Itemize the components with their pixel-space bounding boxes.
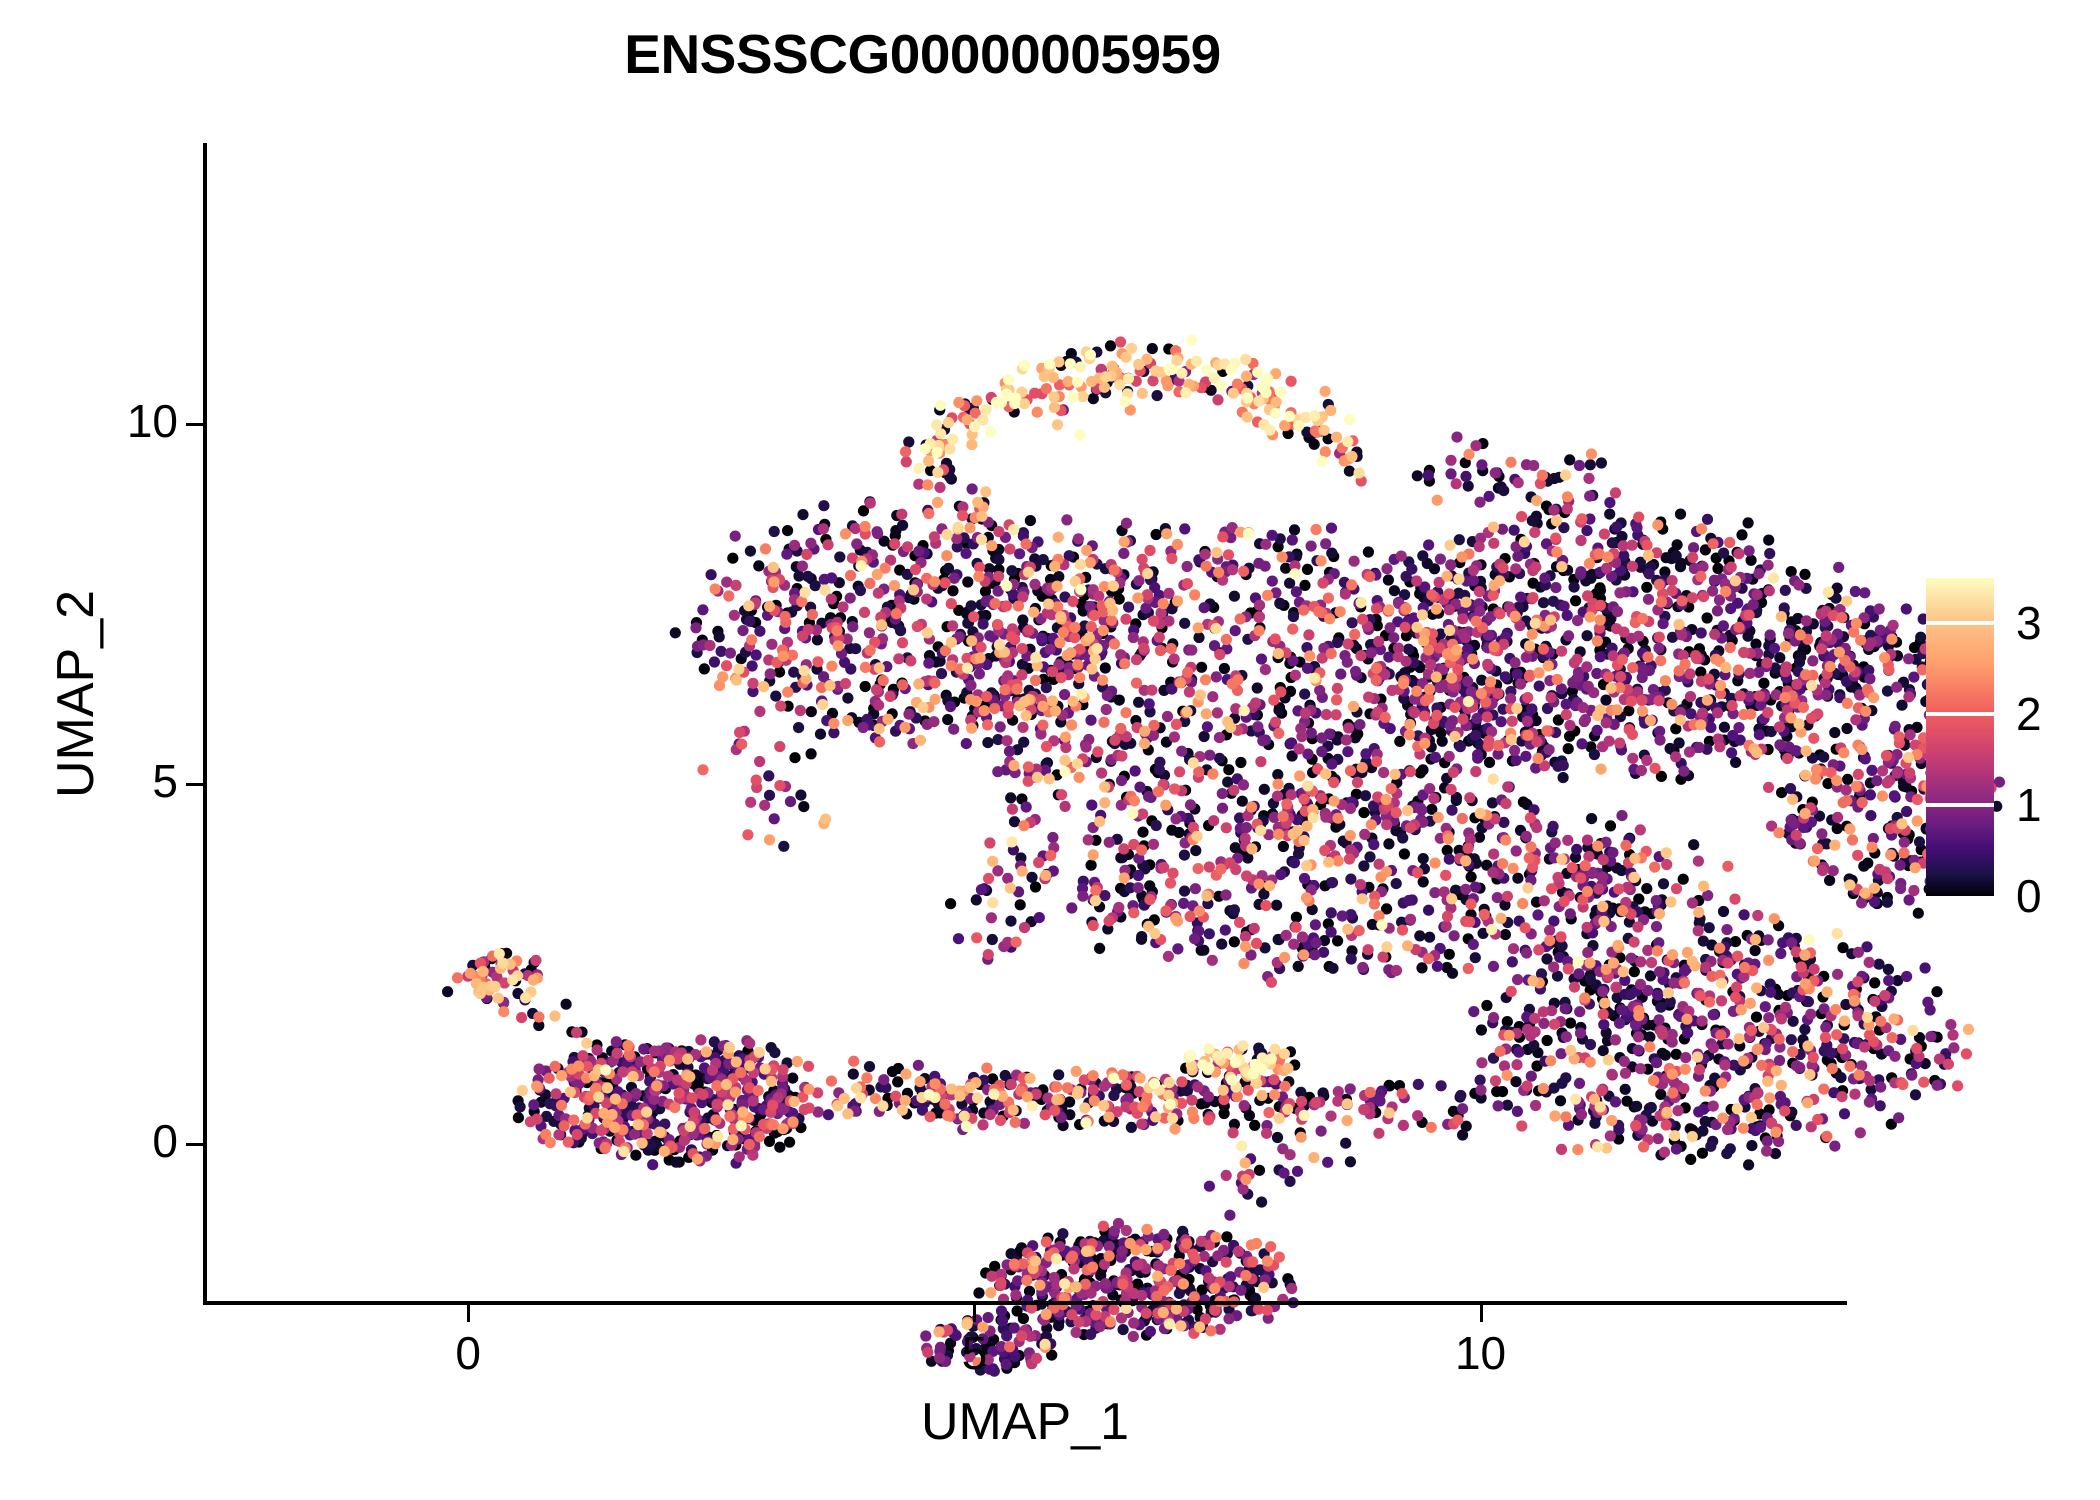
- scatter-point: [1025, 515, 1036, 526]
- scatter-point: [1782, 753, 1793, 764]
- scatter-point: [864, 1061, 875, 1072]
- scatter-point: [643, 1055, 654, 1066]
- scatter-point: [1575, 566, 1586, 577]
- scatter-point: [1853, 947, 1864, 958]
- scatter-point: [1809, 964, 1820, 975]
- scatter-point: [855, 585, 866, 596]
- scatter-point: [1466, 686, 1477, 697]
- scatter-point: [1405, 914, 1416, 925]
- scatter-point: [1586, 813, 1597, 824]
- scatter-point: [1355, 879, 1366, 890]
- scatter-point: [1144, 698, 1155, 709]
- scatter-point: [1056, 789, 1067, 800]
- scatter-point: [1764, 548, 1775, 559]
- scatter-point: [1238, 779, 1249, 790]
- scatter-point: [1403, 644, 1414, 655]
- scatter-point: [1293, 961, 1304, 972]
- scatter-point: [992, 865, 1003, 876]
- scatter-point: [1641, 582, 1652, 593]
- scatter-point: [1556, 646, 1567, 657]
- scatter-point: [1428, 793, 1439, 804]
- scatter-point: [1783, 628, 1794, 639]
- scatter-point: [1716, 995, 1727, 1006]
- scatter-point: [1257, 735, 1268, 746]
- scatter-point: [1643, 594, 1654, 605]
- scatter-point: [1589, 749, 1600, 760]
- scatter-point: [1671, 550, 1682, 561]
- scatter-point: [945, 898, 956, 909]
- scatter-point: [1297, 931, 1308, 942]
- scatter-point: [1564, 731, 1575, 742]
- scatter-point: [1530, 562, 1541, 573]
- scatter-point: [774, 1142, 785, 1153]
- scatter-point: [1488, 538, 1499, 549]
- scatter-point: [1140, 603, 1151, 614]
- scatter-point: [1133, 870, 1144, 881]
- scatter-point: [1905, 729, 1916, 740]
- scatter-point: [1564, 720, 1575, 731]
- scatter-point: [1316, 732, 1327, 743]
- scatter-point: [1182, 561, 1193, 572]
- scatter-point: [1661, 859, 1672, 870]
- scatter-point: [1791, 830, 1802, 841]
- scatter-point: [1066, 1309, 1077, 1320]
- scatter-point: [897, 520, 908, 531]
- scatter-point: [1311, 937, 1322, 948]
- scatter-point: [1620, 1068, 1631, 1079]
- scatter-point: [1294, 743, 1305, 754]
- scatter-point: [1682, 1027, 1693, 1038]
- scatter-point: [1108, 1090, 1119, 1101]
- scatter-point: [1791, 1120, 1802, 1131]
- scatter-point: [1349, 556, 1360, 567]
- scatter-point: [1651, 921, 1662, 932]
- scatter-point: [775, 701, 786, 712]
- scatter-point: [1718, 548, 1729, 559]
- scatter-point: [1118, 1324, 1129, 1335]
- scatter-point: [1738, 647, 1749, 658]
- scatter-point: [1088, 1084, 1099, 1095]
- scatter-point: [1359, 829, 1370, 840]
- scatter-point: [1502, 891, 1513, 902]
- scatter-point: [1546, 692, 1557, 703]
- scatter-point: [1317, 578, 1328, 589]
- scatter-point: [1762, 707, 1773, 718]
- scatter-point: [1865, 789, 1876, 800]
- scatter-point: [1444, 751, 1455, 762]
- scatter-point: [1791, 679, 1802, 690]
- scatter-point: [706, 569, 717, 580]
- scatter-point: [1425, 659, 1436, 670]
- scatter-point: [1853, 769, 1864, 780]
- scatter-point: [1290, 670, 1301, 681]
- scatter-point: [1466, 871, 1477, 882]
- scatter-point: [1882, 777, 1893, 788]
- scatter-point: [1136, 1119, 1147, 1130]
- scatter-point: [1653, 643, 1664, 654]
- scatter-point: [1347, 617, 1358, 628]
- scatter-point: [1599, 529, 1610, 540]
- scatter-point: [1491, 1086, 1502, 1097]
- umap-feature-plot: ENSSSCG00000005959 0510 0510 UMAP_1 UMAP…: [0, 0, 2100, 1500]
- scatter-point: [1774, 652, 1785, 663]
- scatter-point: [1169, 731, 1180, 742]
- scatter-point: [1864, 673, 1875, 684]
- scatter-point: [1601, 563, 1612, 574]
- scatter-point: [1526, 1071, 1537, 1082]
- scatter-point: [561, 999, 572, 1010]
- scatter-point: [769, 813, 780, 824]
- scatter-point: [1116, 750, 1127, 761]
- scatter-point: [1017, 722, 1028, 733]
- scatter-point: [840, 678, 851, 689]
- scatter-point: [1901, 806, 1912, 817]
- scatter-point: [1570, 595, 1581, 606]
- scatter-point: [516, 1012, 527, 1023]
- scatter-point: [896, 509, 907, 520]
- scatter-point: [1021, 801, 1032, 812]
- scatter-point: [983, 1312, 994, 1323]
- scatter-point: [1240, 931, 1251, 942]
- scatter-point: [805, 538, 816, 549]
- scatter-point: [1633, 1045, 1644, 1056]
- scatter-point: [945, 701, 956, 712]
- scatter-point: [1532, 909, 1543, 920]
- scatter-point: [1574, 1006, 1585, 1017]
- scatter-point: [1835, 1072, 1846, 1083]
- scatter-point: [1002, 873, 1013, 884]
- scatter-point: [1925, 1031, 1936, 1042]
- scatter-point: [1015, 899, 1026, 910]
- scatter-point: [1267, 576, 1278, 587]
- scatter-point: [1824, 875, 1835, 886]
- scatter-point: [1186, 645, 1197, 656]
- scatter-point: [1259, 784, 1270, 795]
- scatter-point: [1691, 653, 1702, 664]
- scatter-point: [942, 714, 953, 725]
- scatter-point: [801, 549, 812, 560]
- scatter-point: [1358, 1104, 1369, 1115]
- scatter-point: [1233, 1246, 1244, 1257]
- scatter-point: [1687, 552, 1698, 563]
- scatter-point: [1492, 892, 1503, 903]
- scatter-point: [1574, 460, 1585, 471]
- scatter-point: [1816, 643, 1827, 654]
- scatter-point: [611, 1036, 622, 1047]
- scatter-point: [1316, 793, 1327, 804]
- scatter-point: [1786, 814, 1797, 825]
- scatter-point: [1413, 1079, 1424, 1090]
- scatter-point: [1697, 708, 1708, 719]
- scatter-point: [1593, 884, 1604, 895]
- scatter-point: [1071, 1327, 1082, 1338]
- scatter-point: [1470, 882, 1481, 893]
- scatter-point: [1744, 668, 1755, 679]
- scatter-point: [1538, 597, 1549, 608]
- scatter-point: [647, 1159, 658, 1170]
- scatter-point: [1316, 746, 1327, 757]
- scatter-point: [1484, 757, 1495, 768]
- scatter-point: [1130, 765, 1141, 776]
- scatter-point: [1354, 719, 1365, 730]
- scatter-point: [1635, 1063, 1646, 1074]
- scatter-point: [1889, 790, 1900, 801]
- scatter-point: [1360, 748, 1371, 759]
- scatter-point: [1321, 709, 1332, 720]
- scatter-point: [1034, 912, 1045, 923]
- scatter-point: [806, 706, 817, 717]
- scatter-point: [1053, 1069, 1064, 1080]
- scatter-point: [1903, 653, 1914, 664]
- scatter-point: [1363, 692, 1374, 703]
- scatter-point: [1200, 549, 1211, 560]
- scatter-point: [1502, 781, 1513, 792]
- scatter-point: [1660, 1050, 1671, 1061]
- scatter-point: [1424, 932, 1435, 943]
- scatter-point: [1474, 541, 1485, 552]
- scatter-point: [1693, 742, 1704, 753]
- scatter-point: [1288, 611, 1299, 622]
- scatter-point: [1895, 860, 1906, 871]
- scatter-point: [1615, 671, 1626, 682]
- scatter-point: [1202, 721, 1213, 732]
- scatter-point: [737, 625, 748, 636]
- scatter-point: [1121, 1225, 1132, 1236]
- scatter-point: [745, 546, 756, 557]
- scatter-point: [1577, 702, 1588, 713]
- scatter-point: [1901, 971, 1912, 982]
- scatter-point: [1460, 632, 1471, 643]
- scatter-point: [845, 593, 856, 604]
- scatter-point: [1849, 1089, 1860, 1100]
- plot-panel: [205, 143, 1845, 1303]
- scatter-point: [948, 724, 959, 735]
- scatter-point: [1550, 837, 1561, 848]
- scatter-point: [765, 668, 776, 679]
- scatter-point: [1286, 1283, 1297, 1294]
- scatter-point: [1908, 672, 1919, 683]
- scatter-point: [1292, 1166, 1303, 1177]
- scatter-point: [1556, 1048, 1567, 1059]
- scatter-point: [697, 1089, 708, 1100]
- scatter-point: [1204, 928, 1215, 939]
- scatter-point: [1743, 1159, 1754, 1170]
- scatter-point: [1598, 854, 1609, 865]
- scatter-point: [1510, 563, 1521, 574]
- scatter-point: [902, 541, 913, 552]
- scatter-point: [1882, 897, 1893, 908]
- scatter-point: [1719, 722, 1730, 733]
- scatter-point: [751, 649, 762, 660]
- scatter-point: [1760, 1001, 1771, 1012]
- scatter-point: [1619, 1056, 1630, 1067]
- scatter-point: [690, 622, 701, 633]
- scatter-point: [1007, 804, 1018, 815]
- scatter-point: [1850, 586, 1861, 597]
- scatter-point: [1256, 1197, 1267, 1208]
- scatter-point: [1476, 459, 1487, 470]
- scatter-point: [1673, 1105, 1684, 1116]
- scatter-point: [1397, 832, 1408, 843]
- scatter-point: [847, 621, 858, 632]
- scatter-point: [986, 912, 997, 923]
- scatter-point: [754, 706, 765, 717]
- scatter-point: [550, 1088, 561, 1099]
- scatter-point: [1256, 654, 1267, 665]
- scatter-point: [1451, 432, 1462, 443]
- scatter-point: [1383, 574, 1394, 585]
- scatter-point: [1326, 907, 1337, 918]
- scatter-point: [1642, 945, 1653, 956]
- scatter-point: [1132, 1260, 1143, 1271]
- scatter-point: [1189, 933, 1200, 944]
- scatter-point: [1522, 1080, 1533, 1091]
- scatter-point: [1888, 620, 1899, 631]
- scatter-point: [1515, 592, 1526, 603]
- scatter-point: [1096, 768, 1107, 779]
- scatter-point: [1454, 534, 1465, 545]
- scatter-point: [1272, 791, 1283, 802]
- scatter-point: [763, 770, 774, 781]
- scatter-point: [725, 648, 736, 659]
- scatter-point: [1291, 586, 1302, 597]
- scatter-point: [1077, 891, 1088, 902]
- scatter-point: [819, 574, 830, 585]
- scatter-point: [1670, 751, 1681, 762]
- scatter-point: [1252, 721, 1263, 732]
- scatter-point: [1147, 343, 1158, 354]
- scatter-point: [1592, 725, 1603, 736]
- scatter-point: [534, 1063, 545, 1074]
- scatter-point: [1271, 900, 1282, 911]
- scatter-point: [1204, 750, 1215, 761]
- scatter-point: [789, 752, 800, 763]
- scatter-point: [1394, 736, 1405, 747]
- scatter-point: [1272, 1132, 1283, 1143]
- scatter-point: [1126, 1122, 1137, 1133]
- scatter-point: [1575, 535, 1586, 546]
- scatter-point: [1864, 957, 1875, 968]
- scatter-point: [1655, 1002, 1666, 1013]
- scatter-point: [1903, 691, 1914, 702]
- scatter-point: [764, 790, 775, 801]
- scatter-point: [1342, 746, 1353, 757]
- scatter-point: [1299, 873, 1310, 884]
- scatter-point: [1693, 856, 1704, 867]
- scatter-point: [795, 790, 806, 801]
- scatter-point: [797, 509, 808, 520]
- scatter-point: [851, 538, 862, 549]
- scatter-point: [871, 684, 882, 695]
- scatter-point: [1509, 745, 1520, 756]
- scatter-point: [1548, 1083, 1559, 1094]
- scatter-point: [730, 580, 741, 591]
- scatter-point: [1735, 690, 1746, 701]
- scatter-point: [1875, 625, 1886, 636]
- scatter-point: [1418, 853, 1429, 864]
- scatter-point: [1763, 535, 1774, 546]
- scatter-point: [759, 800, 770, 811]
- scatter-point: [1693, 1106, 1704, 1117]
- scatter-point: [1128, 632, 1139, 643]
- scatter-point: [1816, 828, 1827, 839]
- scatter-point: [1260, 664, 1271, 675]
- scatter-point: [1708, 1101, 1719, 1112]
- scatter-point: [1004, 544, 1015, 555]
- scatter-point: [1053, 571, 1064, 582]
- scatter-point: [1705, 1141, 1716, 1152]
- scatter-point: [1744, 545, 1755, 556]
- scatter-point: [1143, 791, 1154, 802]
- scatter-point: [1462, 676, 1473, 687]
- scatter-point: [1455, 1090, 1466, 1101]
- scatter-point: [1721, 1148, 1732, 1159]
- scatter-point: [1326, 548, 1337, 559]
- scatter-point: [1179, 523, 1190, 534]
- scatter-point: [934, 482, 945, 493]
- scatter-point: [744, 1038, 755, 1049]
- scatter-points-layer: [410, 286, 2050, 1446]
- scatter-point: [1571, 844, 1582, 855]
- scatter-point: [1611, 521, 1622, 532]
- scatter-point: [1169, 653, 1180, 664]
- scatter-point: [993, 554, 1004, 565]
- scatter-point: [1327, 963, 1338, 974]
- scatter-point: [1530, 1026, 1541, 1037]
- scatter-point: [1146, 685, 1157, 696]
- scatter-point: [1604, 509, 1615, 520]
- scatter-point: [1659, 1147, 1670, 1158]
- scatter-point: [1873, 959, 1884, 970]
- scatter-point: [671, 1157, 682, 1168]
- scatter-point: [802, 571, 813, 582]
- scatter-point: [1573, 968, 1584, 979]
- scatter-point: [1920, 962, 1931, 973]
- scatter-point: [1561, 699, 1572, 710]
- scatter-point: [1752, 1088, 1763, 1099]
- scatter-point: [734, 1151, 745, 1162]
- scatter-point: [1278, 841, 1289, 852]
- scatter-point: [1761, 657, 1772, 668]
- scatter-point: [530, 955, 541, 966]
- scatter-point: [1102, 690, 1113, 701]
- scatter-point: [1302, 663, 1313, 674]
- scatter-point: [966, 600, 977, 611]
- scatter-point: [1512, 551, 1523, 562]
- scatter-point: [1412, 470, 1423, 481]
- scatter-point: [1718, 620, 1729, 631]
- scatter-point: [1794, 657, 1805, 668]
- scatter-point: [782, 525, 793, 536]
- scatter-point: [1556, 1144, 1567, 1155]
- scatter-point: [1133, 697, 1144, 708]
- scatter-point: [1755, 1122, 1766, 1133]
- scatter-point: [1904, 894, 1915, 905]
- scatter-point: [1335, 669, 1346, 680]
- scatter-point: [1565, 908, 1576, 919]
- scatter-point: [1688, 542, 1699, 553]
- scatter-point: [992, 766, 1003, 777]
- scatter-point: [1597, 986, 1608, 997]
- scatter-point: [785, 796, 796, 807]
- scatter-point: [1470, 766, 1481, 777]
- scatter-point: [1073, 533, 1084, 544]
- scatter-point: [649, 1046, 660, 1057]
- scatter-point: [1569, 582, 1580, 593]
- scatter-point: [1131, 654, 1142, 665]
- scatter-point: [1512, 669, 1523, 680]
- scatter-point: [1512, 974, 1523, 985]
